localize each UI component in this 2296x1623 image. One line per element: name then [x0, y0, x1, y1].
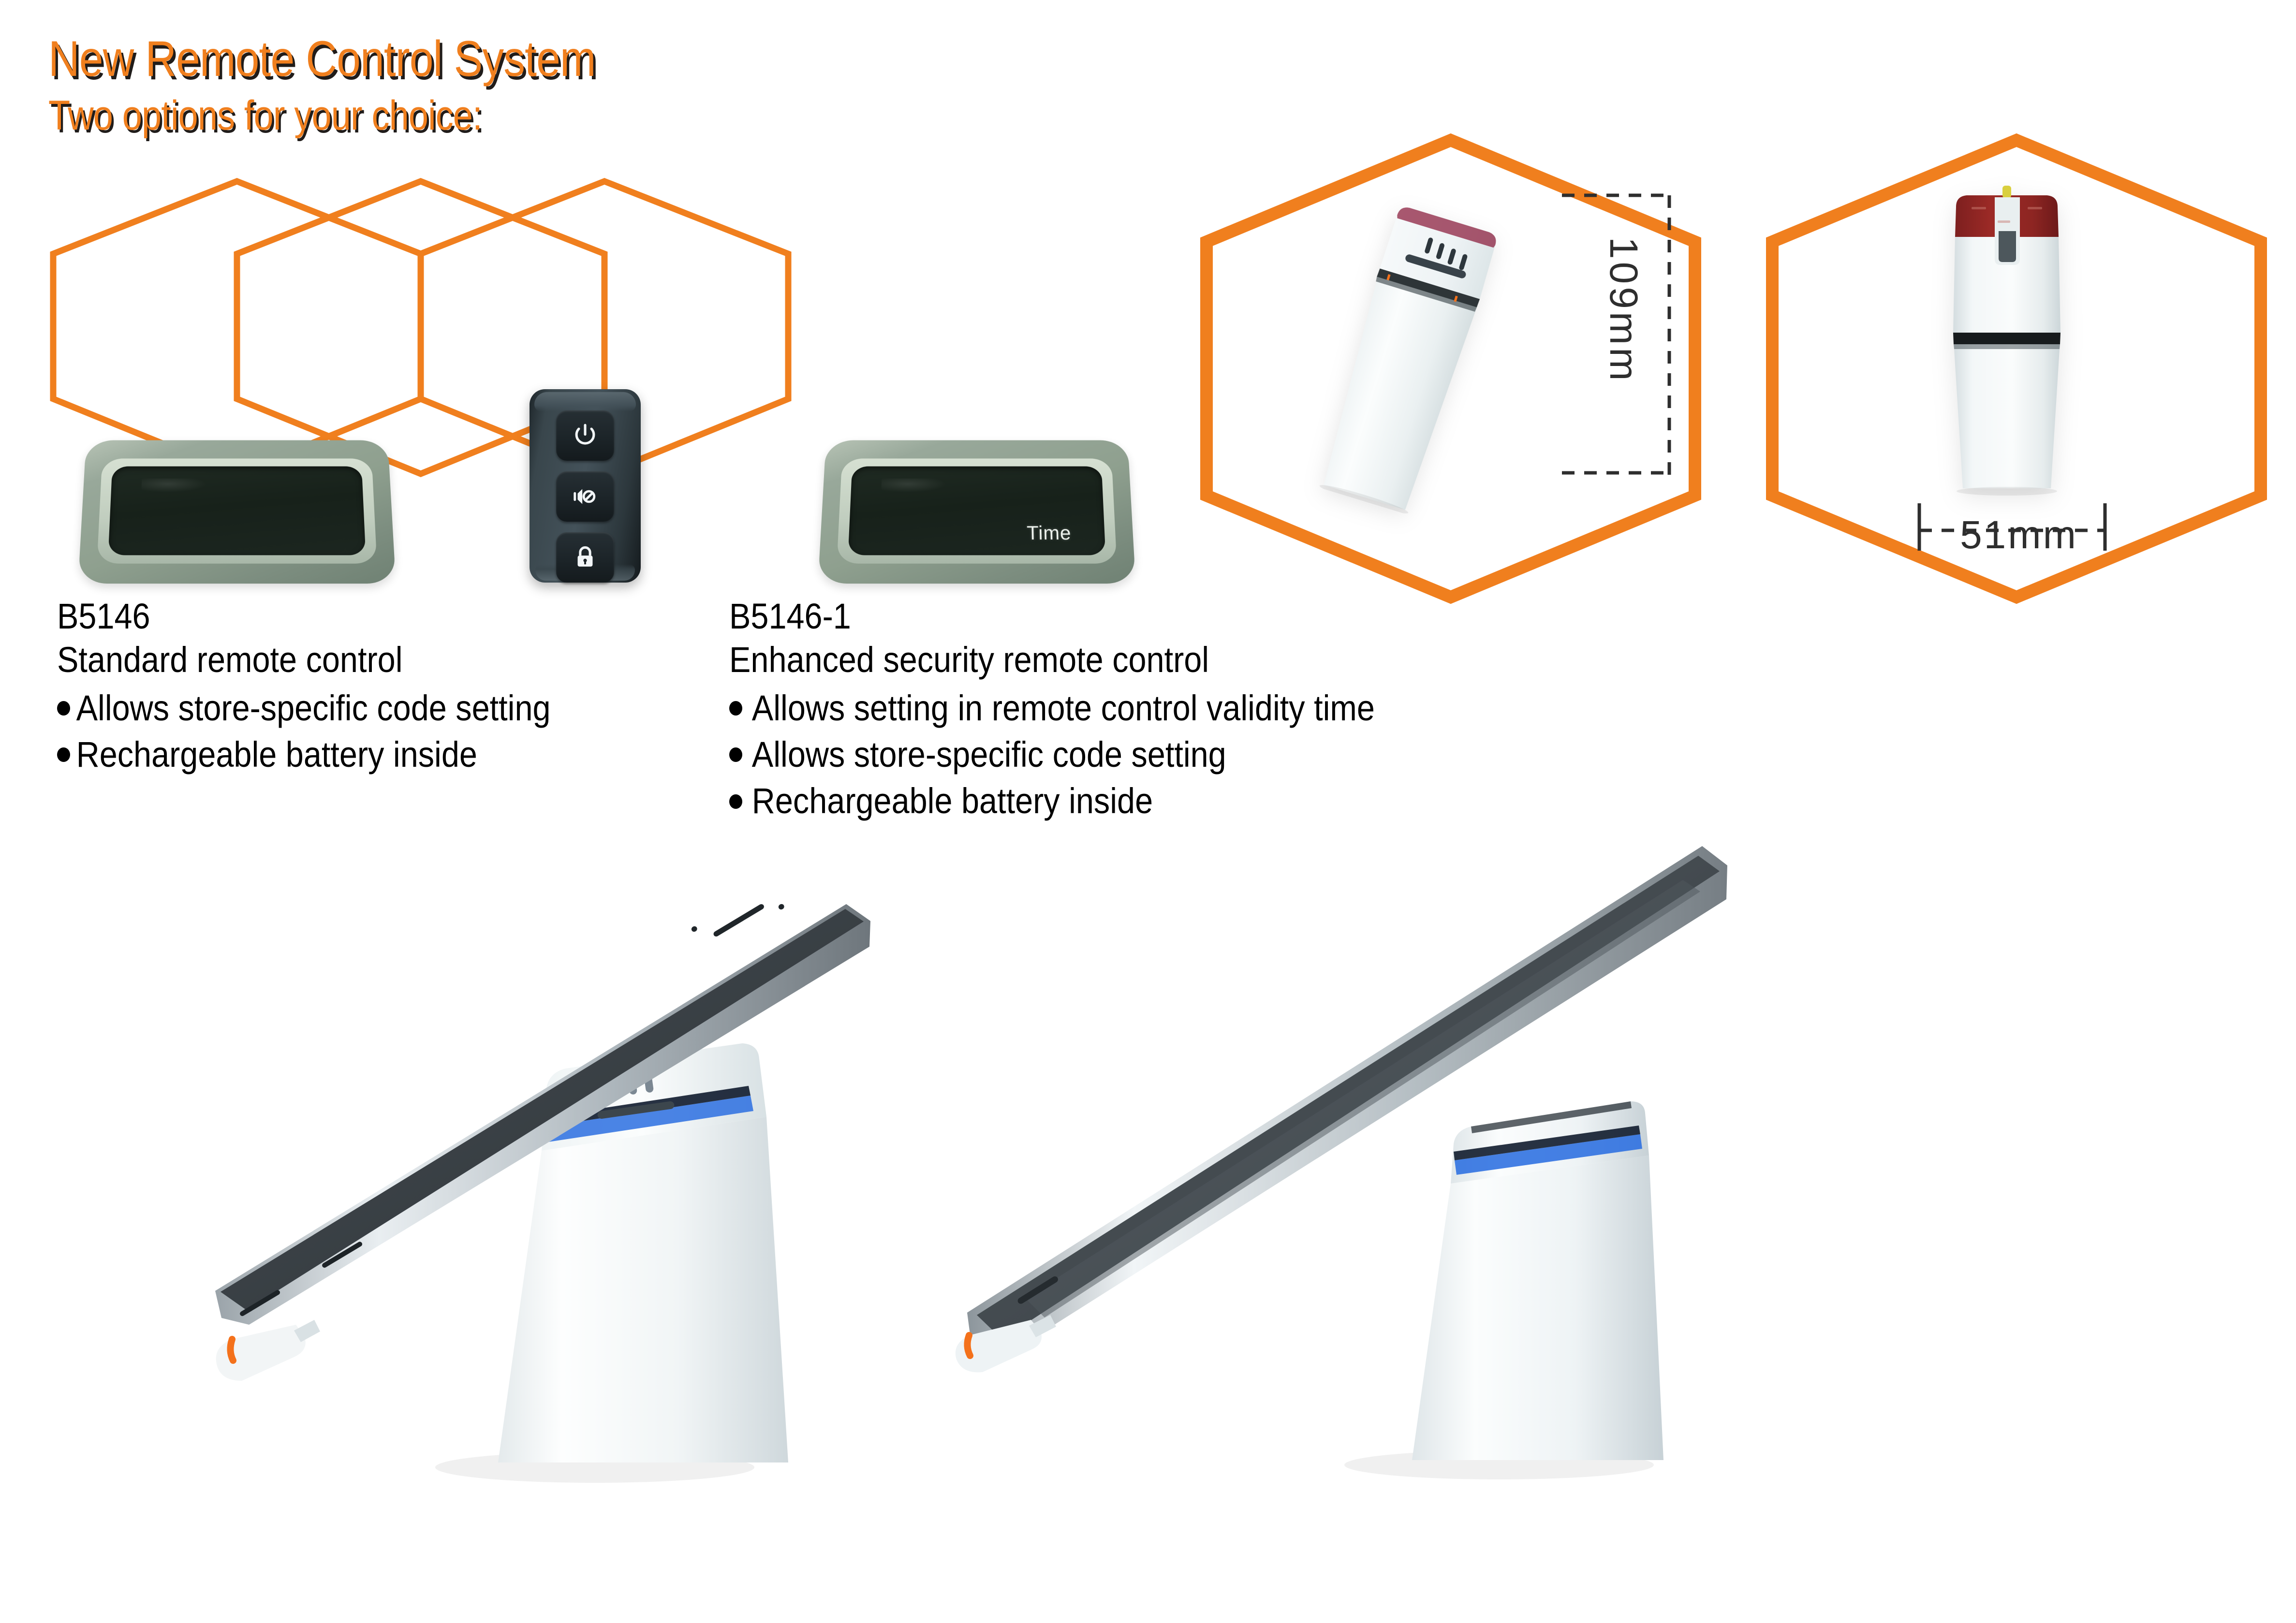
bullet-icon: [729, 747, 742, 762]
mute-alarm-button[interactable]: [556, 471, 614, 522]
stand-pillar: [498, 1117, 788, 1462]
dimension-label-height: 109mm: [1601, 237, 1646, 386]
lcd-bezel-2: Time: [837, 458, 1117, 563]
title-block: New Remote Control System Two options fo…: [48, 34, 1306, 136]
lcd-glass-2: Time: [848, 467, 1105, 556]
spec-name: Enhanced security remote control: [729, 637, 1375, 682]
stand-pillar: [1412, 1155, 1663, 1460]
connector-orange-accent: [230, 1339, 233, 1360]
security-stand-front: [1927, 179, 2087, 498]
lcd-bezel: [97, 458, 377, 563]
list-item: Allows setting in remote control validit…: [729, 685, 1375, 731]
spec-feature-text: Allows store-specific code setting: [752, 731, 1226, 778]
spec-code: B5146-1: [729, 596, 1375, 637]
page-subtitle: Two options for your choice:: [48, 95, 1130, 136]
security-stand-front-wrap: [1927, 179, 2087, 500]
connector-orange-accent: [967, 1335, 970, 1356]
lcd-display-module-2: Time: [818, 440, 1135, 584]
spec-feature-text: Allows store-specific code setting: [76, 685, 551, 731]
hex-item-standard-remote-display: [82, 438, 392, 583]
photo-phone-on-security-stand: [160, 817, 895, 1504]
list-item: Rechargeable battery inside: [57, 731, 551, 778]
power-icon: [571, 422, 599, 450]
lock-icon: [571, 543, 599, 571]
bullet-icon: [729, 794, 742, 809]
charging-connector-plug: [216, 1320, 320, 1381]
bullet-icon: [57, 701, 70, 716]
spec-feature-text: Allows setting in remote control validit…: [752, 685, 1375, 731]
speaker-mute-icon: [571, 483, 599, 511]
list-item: Allows store-specific code setting: [729, 731, 1375, 778]
lock-button[interactable]: [556, 532, 614, 583]
dimension-label-width: 51mm: [1922, 512, 2116, 558]
spec-feature-list: Allows store-specific code setting Recha…: [57, 685, 605, 778]
list-item: Allows store-specific code setting: [57, 685, 551, 731]
bullet-icon: [57, 747, 70, 762]
hex-item-enhanced-remote-display: Time: [822, 438, 1132, 583]
page-title: New Remote Control System: [48, 34, 1130, 84]
spec-block-b5146: B5146 Standard remote control Allows sto…: [57, 596, 605, 778]
handheld-remote: [530, 389, 641, 583]
lcd-screen-text-time: Time: [1027, 522, 1072, 544]
spec-name: Standard remote control: [57, 637, 551, 682]
spec-feature-text: Rechargeable battery inside: [76, 731, 477, 778]
photo-tablet-on-security-stand: [948, 788, 1731, 1504]
security-stand-tilted-wrap: [1335, 208, 1480, 510]
spec-code: B5146: [57, 596, 551, 637]
bullet-icon: [729, 701, 742, 716]
lcd-glass: [108, 467, 366, 556]
power-button[interactable]: [556, 410, 614, 461]
hex-item-key-fob-remote: [530, 389, 641, 583]
lcd-display-module: [78, 440, 396, 584]
